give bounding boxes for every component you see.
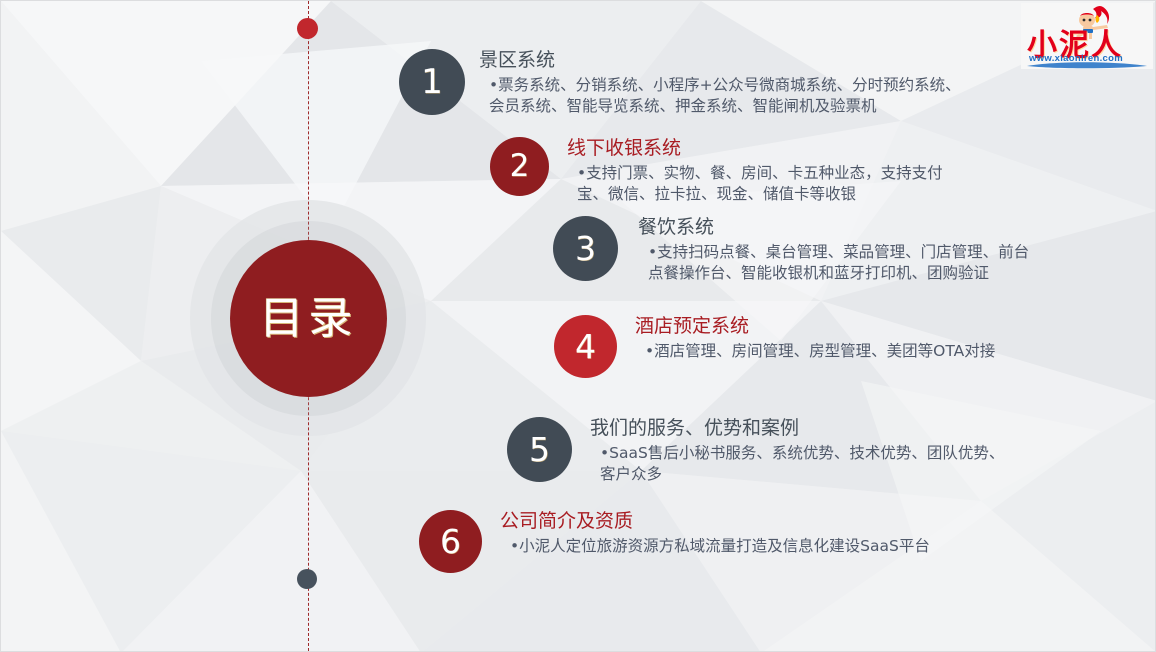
agenda-hub-circle: 目录 <box>230 240 387 397</box>
agenda-item-1-title: 景区系统 <box>479 49 961 73</box>
agenda-item-4-title: 酒店预定系统 <box>635 315 1065 339</box>
agenda-item-1-text: 景区系统 •票务系统、分销系统、小程序+公众号微商城系统、分时预约系统、会员系统… <box>479 49 961 117</box>
agenda-item-1[interactable]: 1 景区系统 •票务系统、分销系统、小程序+公众号微商城系统、分时预约系统、会员… <box>399 49 961 117</box>
agenda-item-2-title: 线下收银系统 <box>567 137 947 161</box>
company-logo[interactable]: 小泥人 www.xiaoniren.com <box>1021 3 1153 69</box>
agenda-item-4-text: 酒店预定系统 •酒店管理、房间管理、房型管理、美团等OTA对接 <box>635 315 1065 362</box>
agenda-item-6-text: 公司简介及资质 •小泥人定位旅游资源方私域流量打造及信息化建设SaaS平台 <box>500 510 1030 557</box>
hub-label: 目录 <box>260 297 358 341</box>
agenda-item-4-desc: •酒店管理、房间管理、房型管理、美团等OTA对接 <box>645 341 1065 362</box>
agenda-item-5[interactable]: 5 我们的服务、优势和案例 •SaaS售后小秘书服务、系统优势、技术优势、团队优… <box>507 417 1018 485</box>
agenda-item-6[interactable]: 6 公司简介及资质 •小泥人定位旅游资源方私域流量打造及信息化建设SaaS平台 <box>419 510 1030 573</box>
agenda-item-6-number: 6 <box>419 510 482 573</box>
agenda-item-4[interactable]: 4 酒店预定系统 •酒店管理、房间管理、房型管理、美团等OTA对接 <box>554 315 1065 378</box>
logo-underline-swoosh <box>1025 61 1149 69</box>
agenda-item-3-text: 餐饮系统 •支持扫码点餐、桌台管理、菜品管理、门店管理、前台点餐操作台、智能收银… <box>638 216 1036 284</box>
agenda-item-5-desc: •SaaS售后小秘书服务、系统优势、技术优势、团队优势、客户众多 <box>600 443 1018 485</box>
agenda-item-1-number: 1 <box>399 49 465 115</box>
agenda-item-3-number: 3 <box>553 216 618 281</box>
agenda-item-3[interactable]: 3 餐饮系统 •支持扫码点餐、桌台管理、菜品管理、门店管理、前台点餐操作台、智能… <box>553 216 1036 284</box>
agenda-item-1-desc: •票务系统、分销系统、小程序+公众号微商城系统、分时预约系统、会员系统、智能导览… <box>489 75 961 117</box>
presentation-slide: 目录 1 景区系统 •票务系统、分销系统、小程序+公众号微商城系统、分时预约系统… <box>0 0 1156 652</box>
agenda-item-6-title: 公司简介及资质 <box>500 510 1030 534</box>
agenda-item-3-title: 餐饮系统 <box>638 216 1036 240</box>
agenda-item-2-text: 线下收银系统 •支持门票、实物、餐、房间、卡五种业态，支持支付宝、微信、拉卡拉、… <box>567 137 947 205</box>
agenda-item-5-title: 我们的服务、优势和案例 <box>590 417 1018 441</box>
timeline-dot-bottom <box>297 569 317 589</box>
agenda-item-6-desc: •小泥人定位旅游资源方私域流量打造及信息化建设SaaS平台 <box>510 536 1030 557</box>
timeline-dot-top <box>297 18 318 39</box>
agenda-item-3-desc: •支持扫码点餐、桌台管理、菜品管理、门店管理、前台点餐操作台、智能收银机和蓝牙打… <box>648 242 1036 284</box>
agenda-item-5-number: 5 <box>507 417 572 482</box>
agenda-item-4-number: 4 <box>554 315 617 378</box>
agenda-item-2-desc: •支持门票、实物、餐、房间、卡五种业态，支持支付宝、微信、拉卡拉、现金、储值卡等… <box>577 163 947 205</box>
agenda-item-2-number: 2 <box>490 137 549 196</box>
agenda-item-2[interactable]: 2 线下收银系统 •支持门票、实物、餐、房间、卡五种业态，支持支付宝、微信、拉卡… <box>490 137 947 205</box>
agenda-item-5-text: 我们的服务、优势和案例 •SaaS售后小秘书服务、系统优势、技术优势、团队优势、… <box>590 417 1018 485</box>
